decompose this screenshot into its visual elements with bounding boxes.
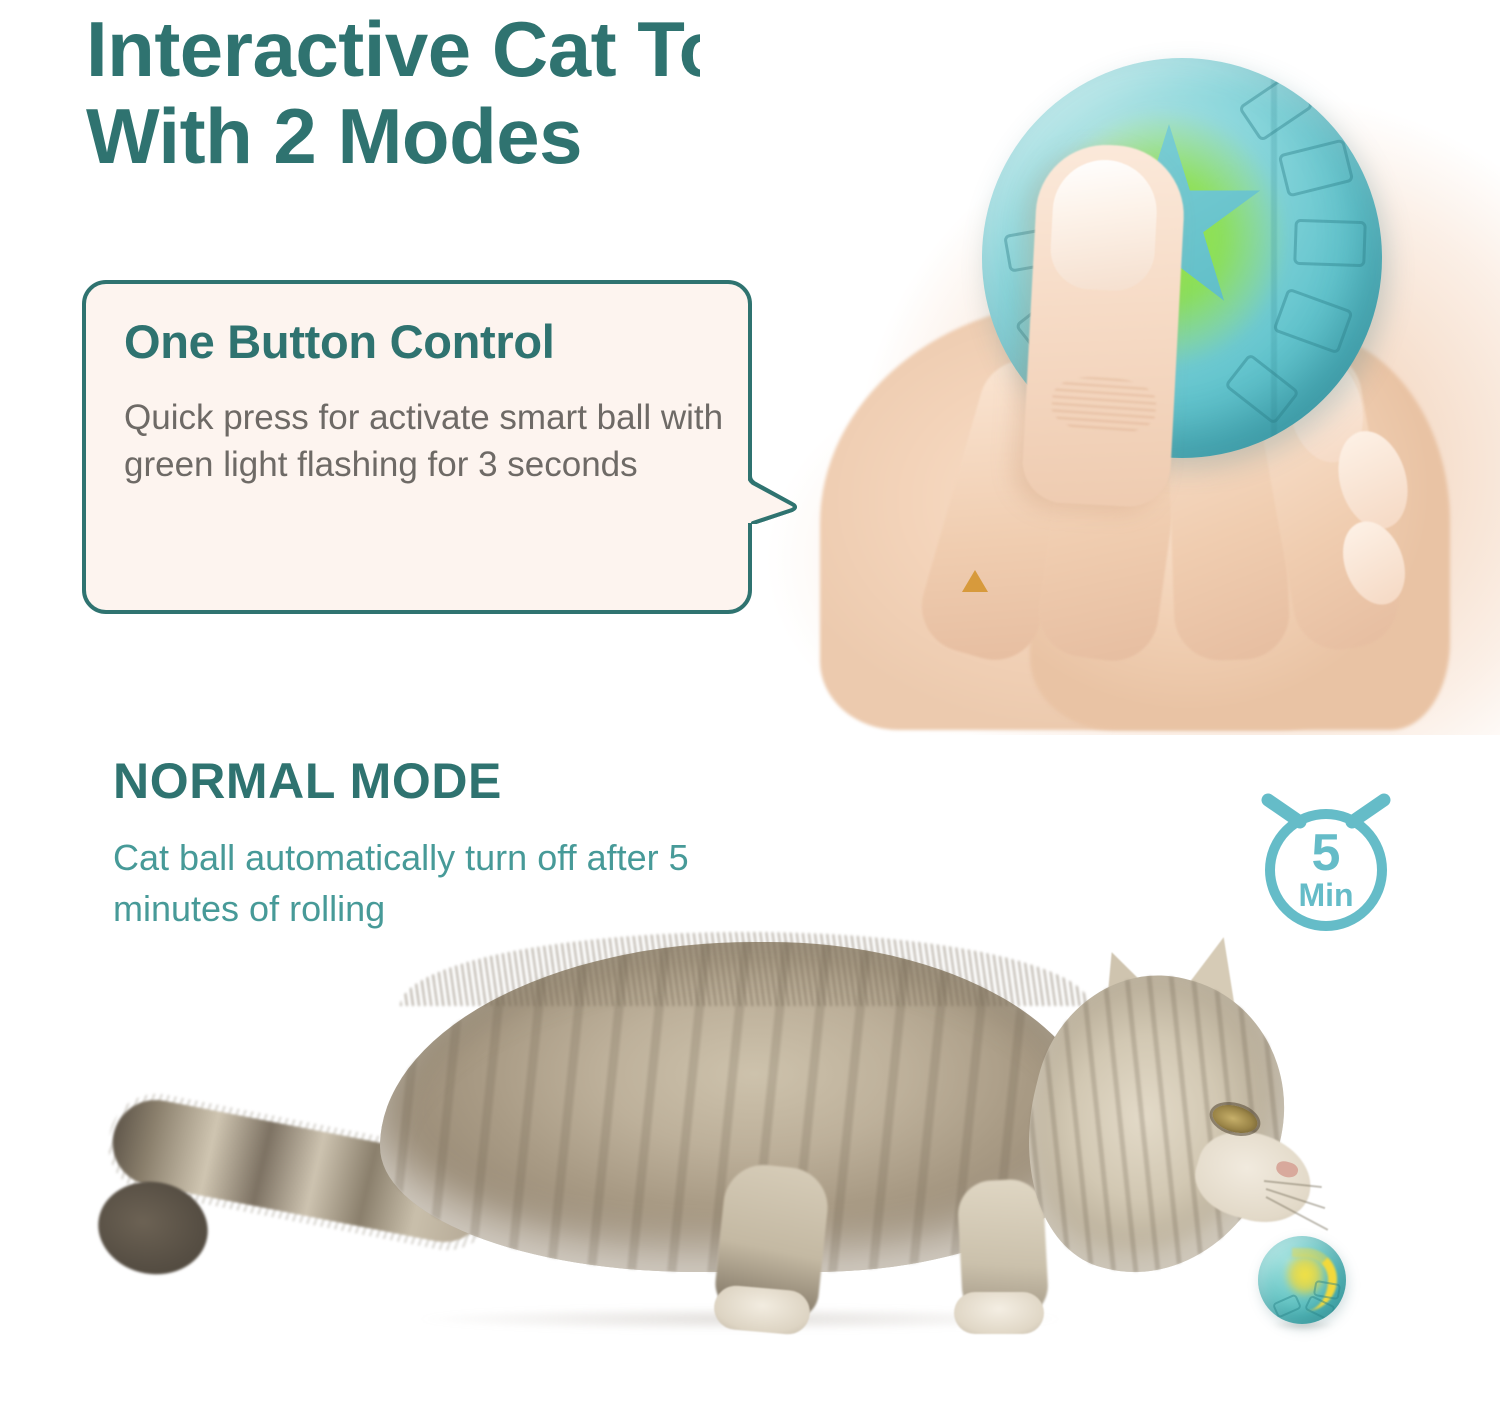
callout-speech-tail [748,466,802,522]
normal-mode-title: NORMAL MODE [113,752,502,810]
callout-body: Quick press for activate smart ball with… [124,394,724,489]
thumbnail-shape [1049,157,1160,292]
cat-front-paw [954,1292,1044,1334]
product-infographic: Interactive Cat Toy With 2 Modes [0,0,1500,1421]
cat-hind-paw [712,1284,811,1336]
cat-with-ball-photo [80,930,1420,1360]
callout-title: One Button Control [124,314,555,369]
timer-unit: Min [1298,877,1353,913]
ball-tread [1293,219,1367,267]
normal-mode-description: Cat ball automatically turn off after 5 … [113,832,753,934]
timer-value: 5 [1312,824,1341,882]
small-ball-tread [1272,1293,1302,1318]
headline-line-1: Interactive Cat Toy [86,5,769,93]
one-button-control-callout: One Button Control Quick press for activ… [82,280,752,614]
hand-holding-ball-photo [700,0,1500,735]
cat-back-fur [400,932,1090,1006]
orange-triangle-marker [962,570,988,592]
alarm-clock-icon: 5 Min [1246,786,1406,936]
small-smart-ball [1258,1236,1346,1324]
